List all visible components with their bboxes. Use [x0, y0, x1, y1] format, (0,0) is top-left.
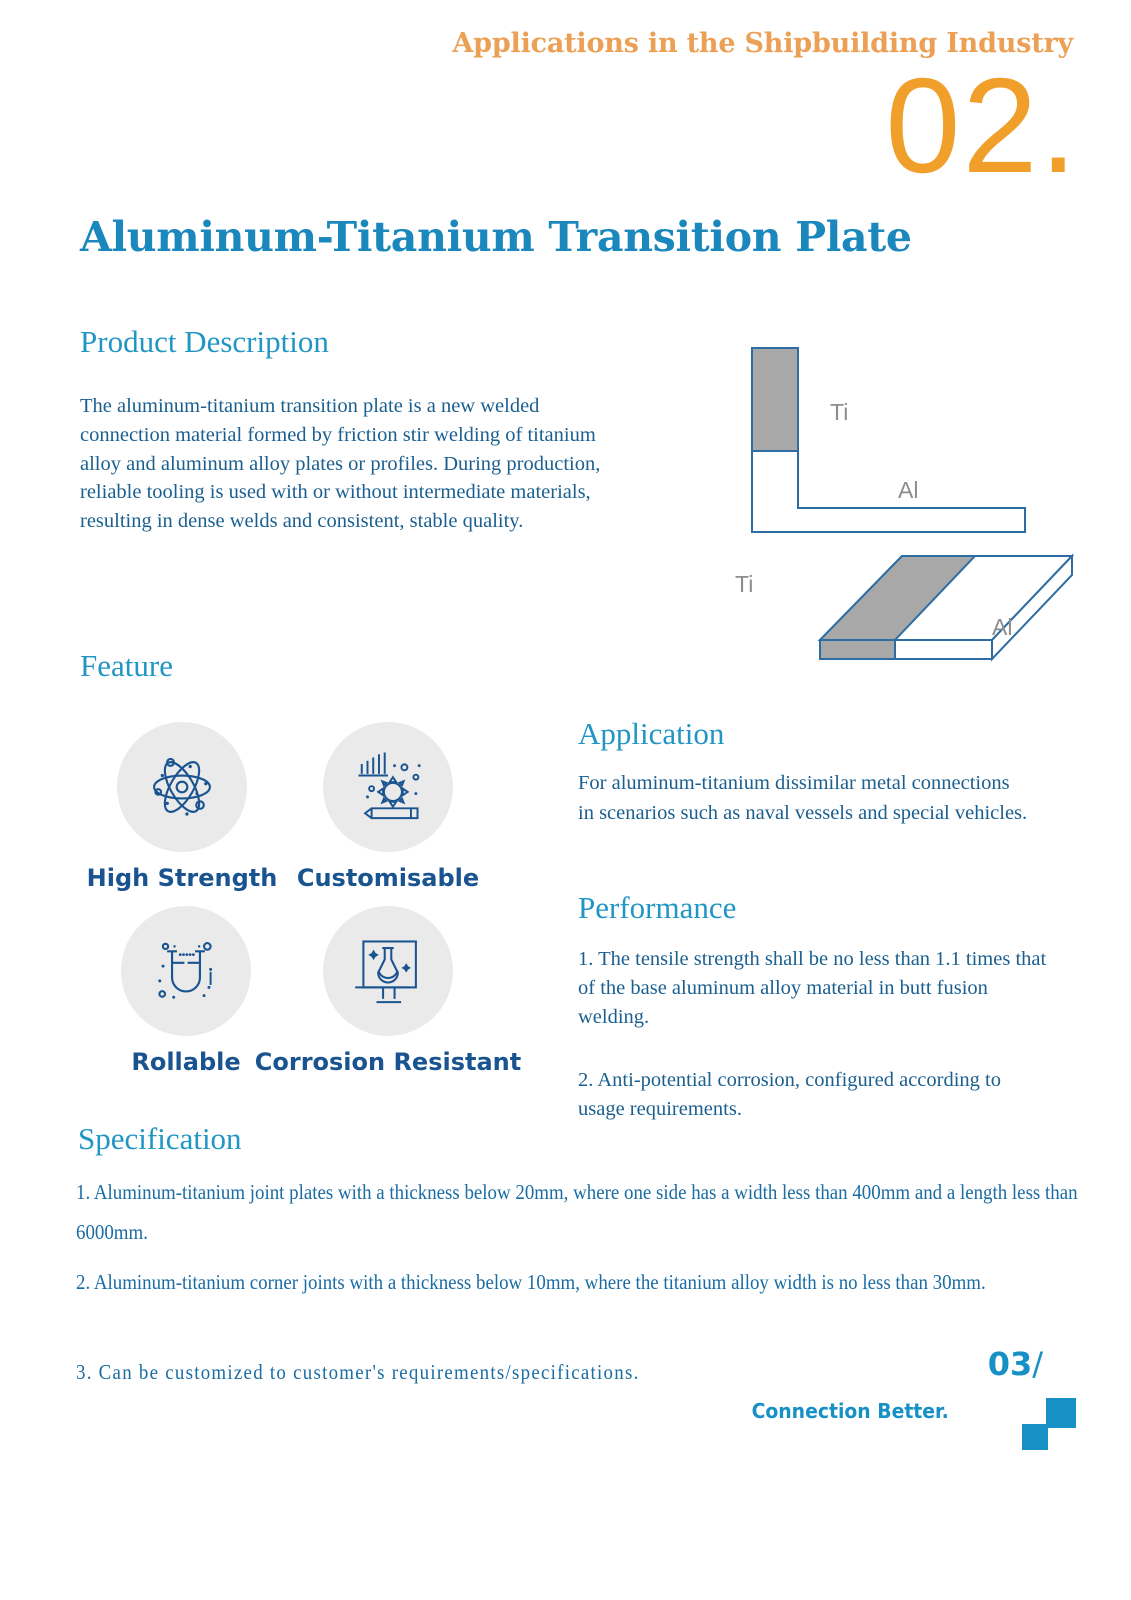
specification-item-1: 1. Aluminum-titanium joint plates with a…	[76, 1172, 1084, 1252]
product-description-text: The aluminum-titanium transition plate i…	[80, 392, 632, 536]
feature-icon-bubble	[117, 722, 247, 852]
corner-joint-al-label: Al	[898, 477, 918, 503]
feature-item-customisable: Customisable	[323, 722, 453, 892]
feature-item-high-strength: High Strength	[117, 722, 247, 892]
footer-tagline: Connection Better.	[752, 1399, 949, 1423]
page-title: Aluminum-Titanium Transition Plate	[80, 213, 912, 261]
heading-specification: Specification	[78, 1121, 242, 1157]
logo-square-upper	[1046, 1398, 1076, 1428]
section-number: 02.	[885, 58, 1079, 193]
flat-plate-al-label: Al	[992, 614, 1012, 640]
performance-item-2: 2. Anti-potential corrosion, configured …	[578, 1066, 1008, 1124]
brand-logo-mark	[1016, 1398, 1076, 1450]
feature-item-rollable: Rollable	[121, 906, 251, 1076]
corner-joint-shape	[752, 348, 1025, 532]
flat-plate-ti-label: Ti	[735, 571, 753, 597]
page: Applications in the Shipbuilding Industr…	[0, 0, 1131, 1600]
page-number-separator: /	[1032, 1345, 1043, 1383]
heading-performance: Performance	[578, 890, 736, 926]
performance-item-1: 1. The tensile strength shall be no less…	[578, 945, 1048, 1032]
aluminum-titanium-joint-diagram: Ti Al Ti Al	[680, 320, 1080, 670]
page-number-value: 03	[988, 1345, 1033, 1383]
heading-feature: Feature	[80, 648, 173, 684]
application-text: For aluminum-titanium dissimilar metal c…	[578, 768, 1030, 828]
feature-icon-bubble	[323, 906, 453, 1036]
gear-pencil-chart-icon	[347, 746, 429, 828]
heading-application: Application	[578, 716, 724, 752]
corner-joint-ti-label: Ti	[830, 399, 848, 425]
feature-item-corrosion-resistant: Corrosion Resistant	[323, 906, 453, 1076]
feature-icon-bubble	[323, 722, 453, 852]
specification-item-3: 3. Can be customized to customer's requi…	[76, 1352, 832, 1392]
feature-label: Corrosion Resistant	[245, 1048, 531, 1076]
heading-product-description: Product Description	[80, 324, 329, 360]
logo-square-lower	[1022, 1424, 1048, 1450]
feature-icon-bubble	[121, 906, 251, 1036]
flat-plate-shape	[820, 556, 1072, 659]
specification-item-2: 2. Aluminum-titanium corner joints with …	[76, 1262, 1084, 1302]
magnet-icon	[145, 930, 227, 1012]
monitor-flask-icon	[347, 930, 429, 1012]
feature-label: Customisable	[291, 864, 485, 892]
page-number: 03/	[988, 1345, 1043, 1383]
feature-label: High Strength	[85, 864, 279, 892]
atom-icon	[141, 746, 223, 828]
